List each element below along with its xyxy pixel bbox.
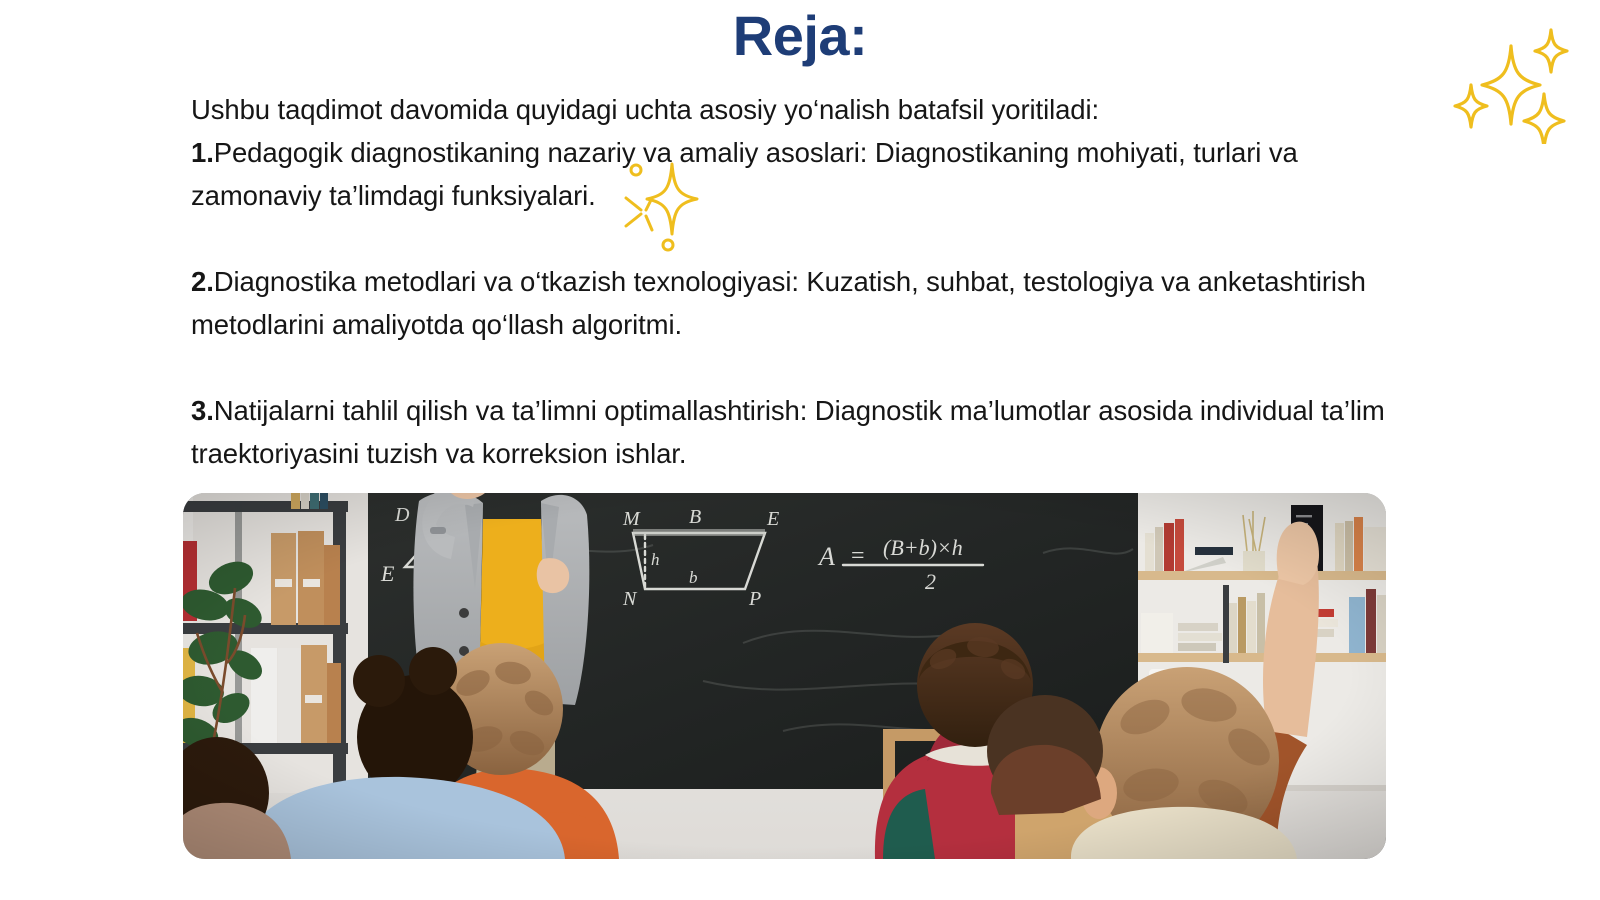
classroom-photo: D E h h M B E N P h b A = (B+b)×h 2 (183, 493, 1386, 859)
list-item-2: 2.Diagnostika metodlari va o‘tkazish tex… (191, 260, 1386, 346)
list-item-1: 1.Pedagogik diagnostikaning nazariy va a… (191, 131, 1386, 217)
page-title: Reja: (0, 4, 1600, 68)
list-item-3: 3.Natijalarni tahlil qilish va ta’limni … (191, 389, 1386, 475)
list-item-3-number: 3. (191, 395, 214, 426)
lead-paragraph: Ushbu taqdimot davomida quyidagi uchta a… (191, 88, 1386, 131)
list-item-2-number: 2. (191, 266, 214, 297)
list-item-2-text: Diagnostika metodlari va o‘tkazish texno… (191, 266, 1366, 340)
list-item-1-text: Pedagogik diagnostikaning nazariy va ama… (191, 137, 1298, 211)
content-body: Ushbu taqdimot davomida quyidagi uchta a… (191, 88, 1386, 475)
slide-root: Reja: Ushbu taqdimot davomida quyidagi u… (0, 0, 1600, 900)
list-item-1-number: 1. (191, 137, 214, 168)
list-item-3-text: Natijalarni tahlil qilish va ta’limni op… (191, 395, 1385, 469)
